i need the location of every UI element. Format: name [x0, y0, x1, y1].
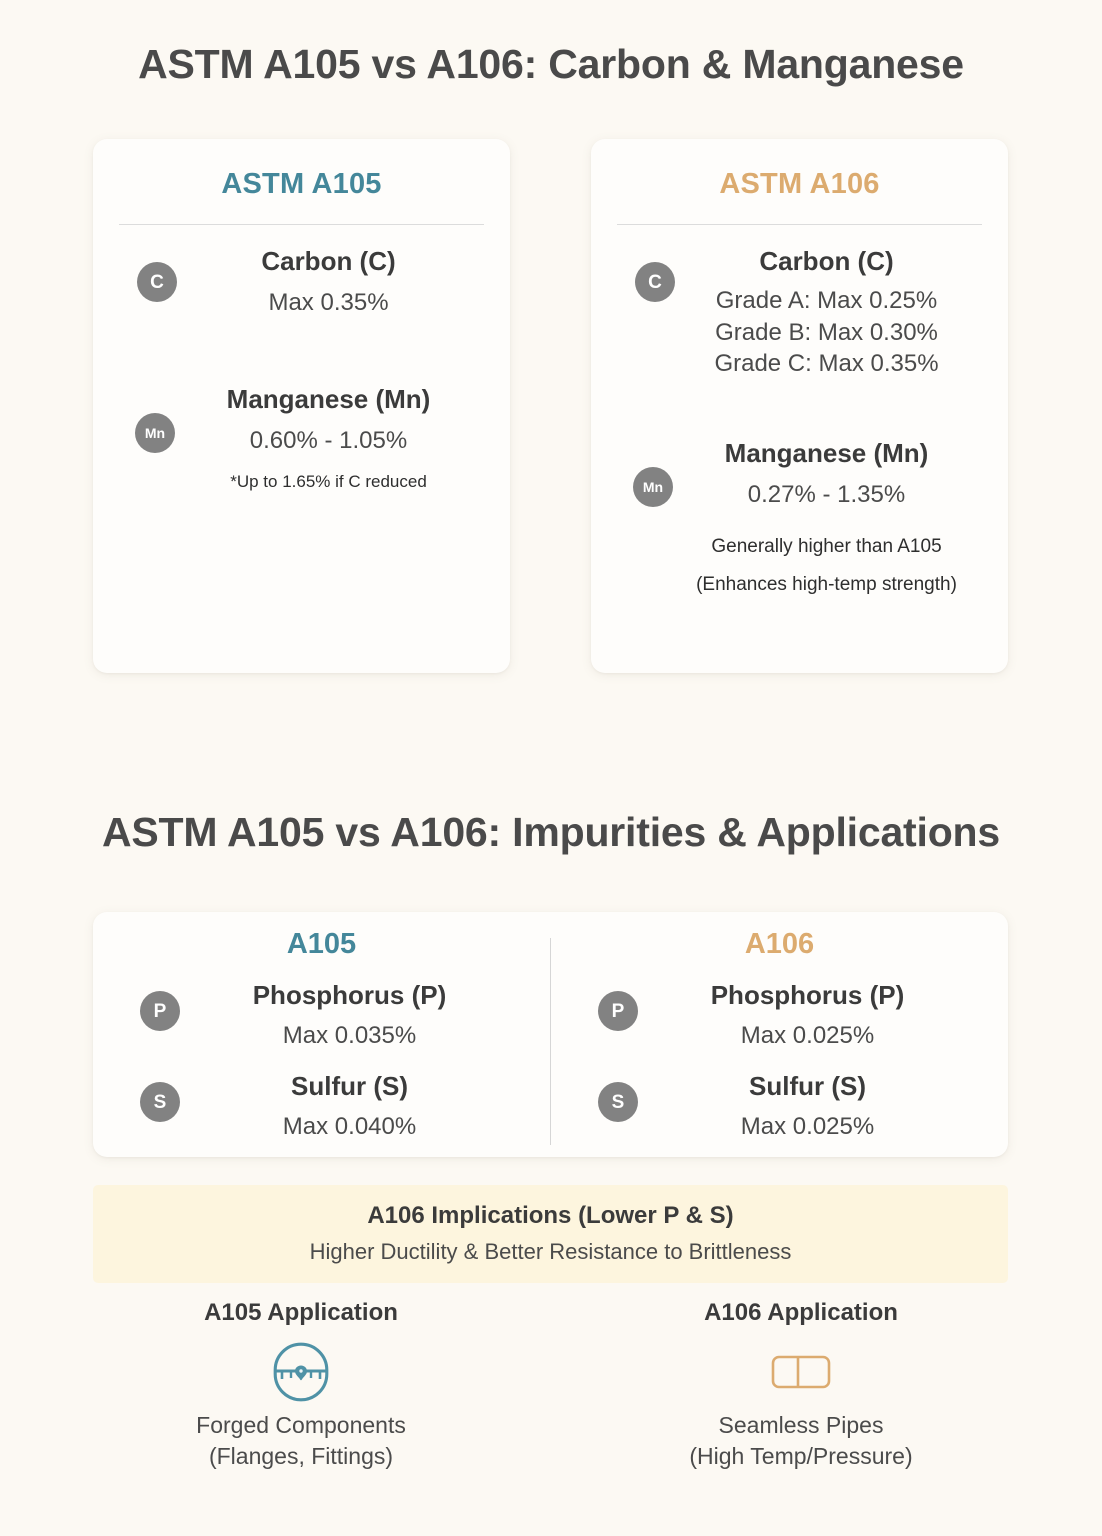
card-astm-a105: ASTM A105 C Carbon (C) Max 0.35% Mn Mang…: [93, 139, 510, 673]
carbon-badge-label: C: [648, 273, 662, 292]
a106-manganese-name: Manganese (Mn): [645, 439, 1008, 469]
section-one-title: ASTM A105 vs A106: Carbon & Manganese: [0, 44, 1102, 85]
phosphorus-badge-icon: P: [598, 991, 638, 1031]
card-a105-heading: ASTM A105: [93, 168, 510, 201]
sulfur-badge-icon: S: [140, 1082, 180, 1122]
manganese-badge-icon: Mn: [633, 467, 673, 507]
impurities-a105-heading: A105: [93, 928, 550, 961]
implications-banner: A106 Implications (Lower P & S) Higher D…: [93, 1185, 1008, 1283]
phosphorus-badge-label: P: [612, 1002, 625, 1021]
a105-manganese-note: *Up to 1.65% if C reduced: [147, 469, 510, 495]
card-a106-divider: [617, 224, 982, 225]
application-a105-caption-line-2: (Flanges, Fittings): [101, 1441, 501, 1472]
card-a106-heading: ASTM A106: [591, 168, 1008, 201]
phosphorus-badge-label: P: [154, 1002, 167, 1021]
a106-sulfur-name: Sulfur (S): [607, 1072, 1008, 1102]
a105-manganese-name: Manganese (Mn): [147, 385, 510, 415]
carbon-badge-icon: C: [137, 262, 177, 302]
a105-phosphorus-name: Phosphorus (P): [149, 981, 550, 1011]
phosphorus-badge-icon: P: [140, 991, 180, 1031]
card-impurities: A105 P Phosphorus (P) Max 0.035% S Sulfu…: [93, 912, 1008, 1157]
application-a105-title: A105 Application: [101, 1300, 501, 1326]
card-a105-divider: [119, 224, 484, 225]
a105-phosphorus-row: P Phosphorus (P) Max 0.035%: [93, 981, 550, 1051]
sulfur-badge-icon: S: [598, 1082, 638, 1122]
application-a105: A105 Application Forged Components (Flan…: [101, 1300, 501, 1472]
application-a105-caption-line-1: Forged Components: [101, 1410, 501, 1441]
a106-manganese-note-1: Generally higher than A105: [645, 533, 1008, 562]
a106-carbon-grade-b: Grade B: Max 0.30%: [645, 317, 1008, 349]
a106-carbon-row: C Carbon (C) Grade A: Max 0.25% Grade B:…: [591, 247, 1008, 380]
manganese-badge-icon: Mn: [135, 413, 175, 453]
a106-carbon-grade-a: Grade A: Max 0.25%: [645, 285, 1008, 317]
forged-flange-icon: [101, 1334, 501, 1410]
a106-carbon-name: Carbon (C): [645, 247, 1008, 277]
a105-carbon-value: Max 0.35%: [147, 287, 510, 319]
a106-manganese-row: Mn Manganese (Mn) 0.27% - 1.35% Generall…: [591, 439, 1008, 600]
manganese-badge-label: Mn: [145, 426, 165, 440]
a106-carbon-grade-c: Grade C: Max 0.35%: [645, 348, 1008, 380]
a105-carbon-name: Carbon (C): [147, 247, 510, 277]
a106-sulfur-row: S Sulfur (S) Max 0.025%: [551, 1072, 1008, 1142]
application-a106-caption-line-2: (High Temp/Pressure): [601, 1441, 1001, 1472]
sulfur-badge-label: S: [154, 1093, 167, 1112]
manganese-badge-label: Mn: [643, 480, 663, 494]
impurities-column-a106: A106 P Phosphorus (P) Max 0.025% S Sulfu…: [551, 912, 1008, 1157]
carbon-badge-icon: C: [635, 262, 675, 302]
a106-phosphorus-value: Max 0.025%: [607, 1020, 1008, 1051]
application-a106-caption-line-1: Seamless Pipes: [601, 1410, 1001, 1441]
sulfur-badge-label: S: [612, 1093, 625, 1112]
carbon-badge-label: C: [150, 273, 164, 292]
card-astm-a106: ASTM A106 C Carbon (C) Grade A: Max 0.25…: [591, 139, 1008, 673]
section-two-title: ASTM A105 vs A106: Impurities & Applicat…: [0, 812, 1102, 853]
a105-carbon-row: C Carbon (C) Max 0.35%: [93, 247, 510, 319]
a105-sulfur-value: Max 0.040%: [149, 1111, 550, 1142]
application-a106: A106 Application Seamless Pipes (High Te…: [601, 1300, 1001, 1472]
a105-sulfur-name: Sulfur (S): [149, 1072, 550, 1102]
a105-sulfur-row: S Sulfur (S) Max 0.040%: [93, 1072, 550, 1142]
a106-manganese-note-2: (Enhances high-temp strength): [645, 571, 1008, 600]
a106-phosphorus-row: P Phosphorus (P) Max 0.025%: [551, 981, 1008, 1051]
a105-manganese-row: Mn Manganese (Mn) 0.60% - 1.05% *Up to 1…: [93, 385, 510, 494]
implications-title: A106 Implications (Lower P & S): [93, 1185, 1008, 1229]
seamless-pipe-icon: [601, 1334, 1001, 1410]
a105-phosphorus-value: Max 0.035%: [149, 1020, 550, 1051]
impurities-a106-heading: A106: [551, 928, 1008, 961]
a106-manganese-value: 0.27% - 1.35%: [645, 479, 1008, 511]
a106-sulfur-value: Max 0.025%: [607, 1111, 1008, 1142]
a106-phosphorus-name: Phosphorus (P): [607, 981, 1008, 1011]
application-a106-title: A106 Application: [601, 1300, 1001, 1326]
implications-subtitle: Higher Ductility & Better Resistance to …: [93, 1229, 1008, 1264]
impurities-column-a105: A105 P Phosphorus (P) Max 0.035% S Sulfu…: [93, 912, 550, 1157]
a105-manganese-value: 0.60% - 1.05%: [147, 425, 510, 457]
